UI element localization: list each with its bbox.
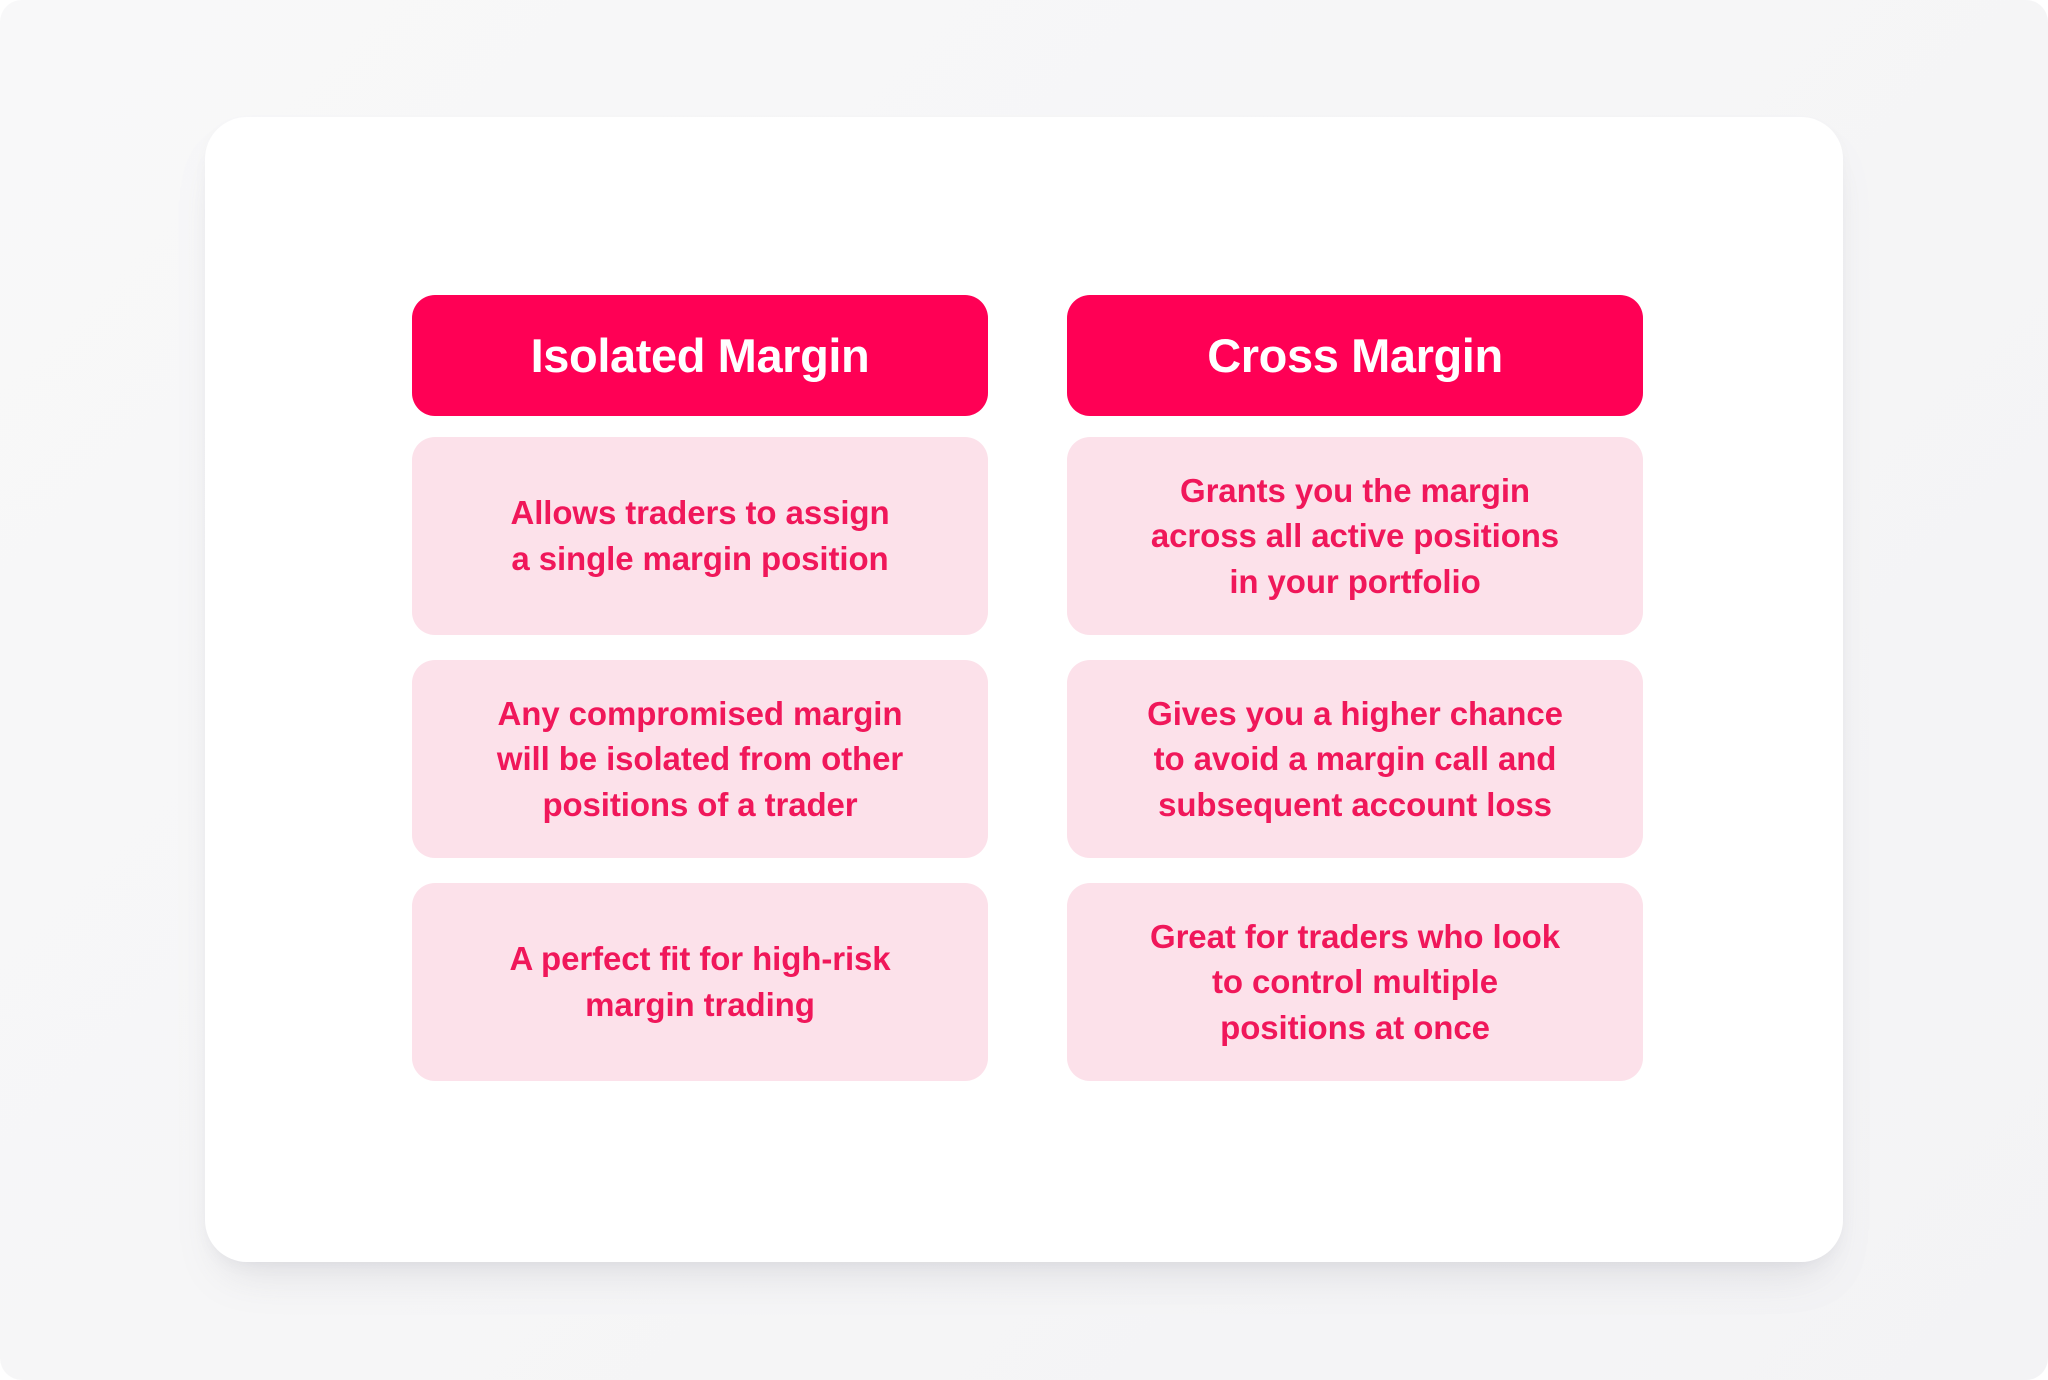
column-header-label: Cross Margin	[1207, 332, 1503, 379]
feature-card[interactable]: Allows traders to assign a single margin…	[412, 437, 988, 635]
comparison-panel: Isolated Margin Allows traders to assign…	[205, 117, 1843, 1262]
feature-card[interactable]: Any compromised margin will be isolated …	[412, 660, 988, 858]
feature-card[interactable]: Great for traders who look to control mu…	[1067, 883, 1643, 1081]
column-header-label: Isolated Margin	[531, 332, 870, 379]
feature-card-text: Great for traders who look to control mu…	[1150, 914, 1560, 1051]
comparison-column-isolated-margin: Isolated Margin Allows traders to assign…	[412, 295, 988, 1081]
feature-card-text: Gives you a higher chance to avoid a mar…	[1147, 691, 1563, 828]
feature-card-text: A perfect fit for high-risk margin tradi…	[509, 936, 890, 1027]
comparison-column-cross-margin: Cross Margin Grants you the margin acros…	[1067, 295, 1643, 1081]
column-header-isolated-margin[interactable]: Isolated Margin	[412, 295, 988, 416]
feature-card[interactable]: A perfect fit for high-risk margin tradi…	[412, 883, 988, 1081]
feature-card-text: Any compromised margin will be isolated …	[497, 691, 903, 828]
feature-card[interactable]: Grants you the margin across all active …	[1067, 437, 1643, 635]
page-surface: Isolated Margin Allows traders to assign…	[0, 0, 2048, 1380]
comparison-grid: Isolated Margin Allows traders to assign…	[412, 295, 1643, 1081]
feature-card-text: Allows traders to assign a single margin…	[510, 490, 889, 581]
feature-card[interactable]: Gives you a higher chance to avoid a mar…	[1067, 660, 1643, 858]
column-header-cross-margin[interactable]: Cross Margin	[1067, 295, 1643, 416]
feature-card-text: Grants you the margin across all active …	[1151, 468, 1559, 605]
